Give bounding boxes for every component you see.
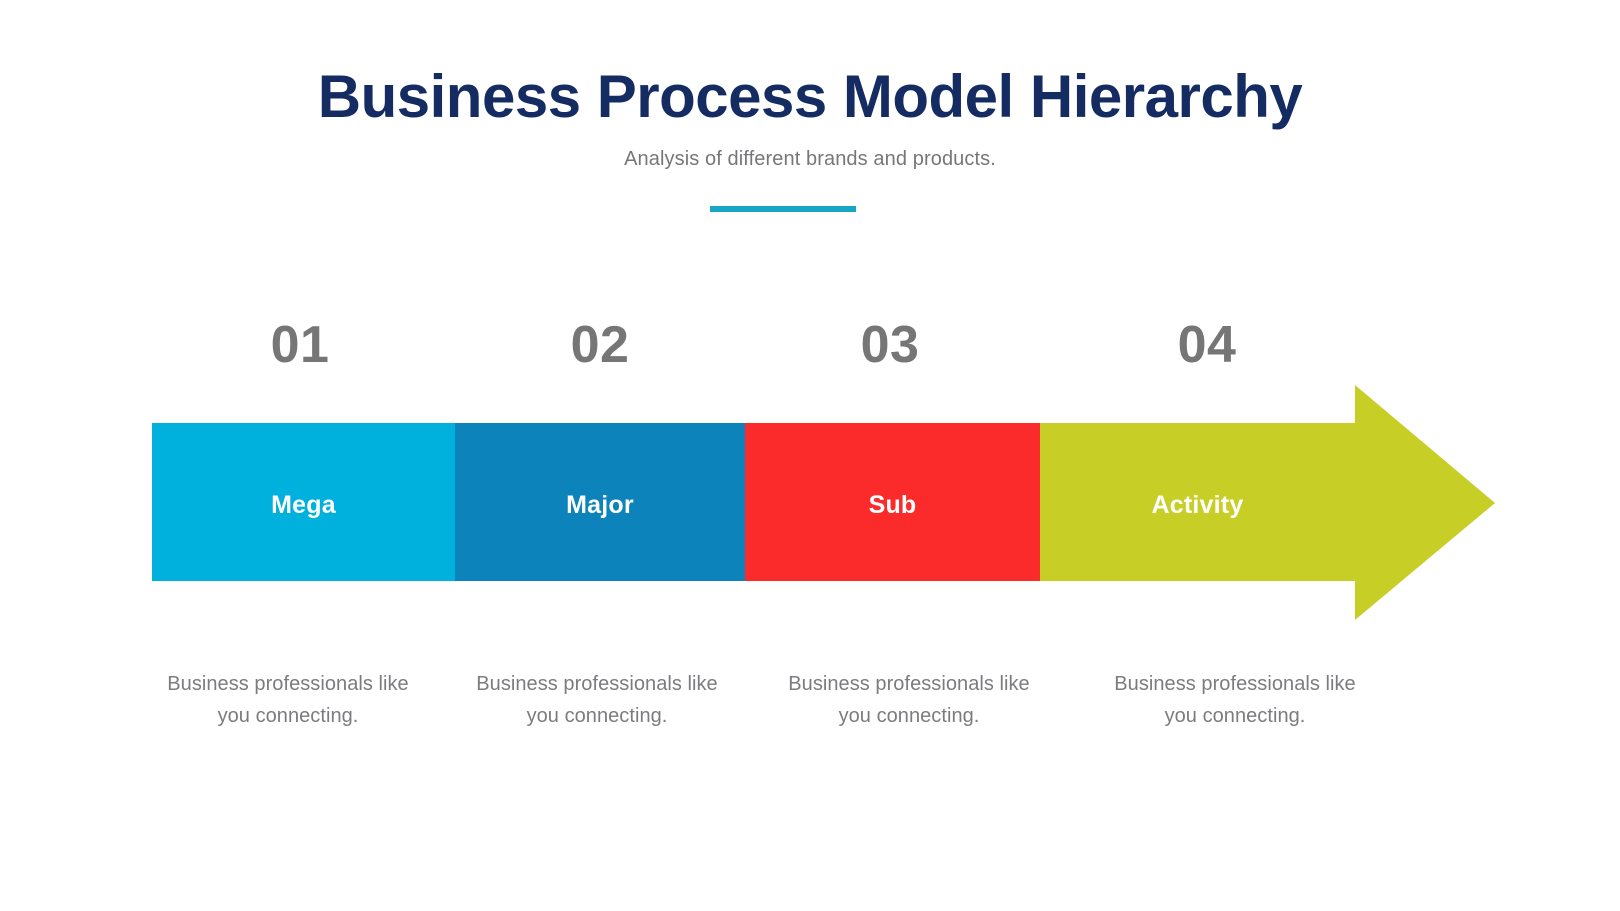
page-subtitle: Analysis of different brands and product…	[0, 148, 1620, 171]
description-02-line2: you connecting.	[452, 700, 742, 732]
description-04: Business professionals like you connecti…	[1090, 668, 1380, 732]
description-02: Business professionals like you connecti…	[452, 668, 742, 732]
page-title: Business Process Model Hierarchy	[0, 62, 1620, 131]
description-02-line1: Business professionals like	[452, 668, 742, 700]
description-03: Business professionals like you connecti…	[764, 668, 1054, 732]
step-numbers-row: 01 02 03 04	[152, 313, 1352, 377]
descriptions-row: Business professionals like you connecti…	[152, 668, 1352, 738]
segment-label-sub: Sub	[745, 487, 1040, 523]
step-number-03: 03	[800, 313, 980, 377]
step-number-04: 04	[1117, 313, 1297, 377]
description-01-line2: you connecting.	[143, 700, 433, 732]
segment-label-activity: Activity	[1040, 487, 1355, 523]
step-number-02: 02	[510, 313, 690, 377]
description-04-line2: you connecting.	[1090, 700, 1380, 732]
slide-canvas: Business Process Model Hierarchy Analysi…	[0, 0, 1620, 911]
step-number-01: 01	[210, 313, 390, 377]
description-03-line1: Business professionals like	[764, 668, 1054, 700]
description-01: Business professionals like you connecti…	[143, 668, 433, 732]
description-01-line1: Business professionals like	[143, 668, 433, 700]
description-04-line1: Business professionals like	[1090, 668, 1380, 700]
description-03-line2: you connecting.	[764, 700, 1054, 732]
process-arrow: Mega Major Sub Activity	[152, 385, 1495, 620]
segment-label-major: Major	[455, 487, 745, 523]
accent-divider	[710, 206, 856, 212]
header-block: Business Process Model Hierarchy Analysi…	[0, 62, 1620, 171]
segment-label-mega: Mega	[152, 487, 455, 523]
